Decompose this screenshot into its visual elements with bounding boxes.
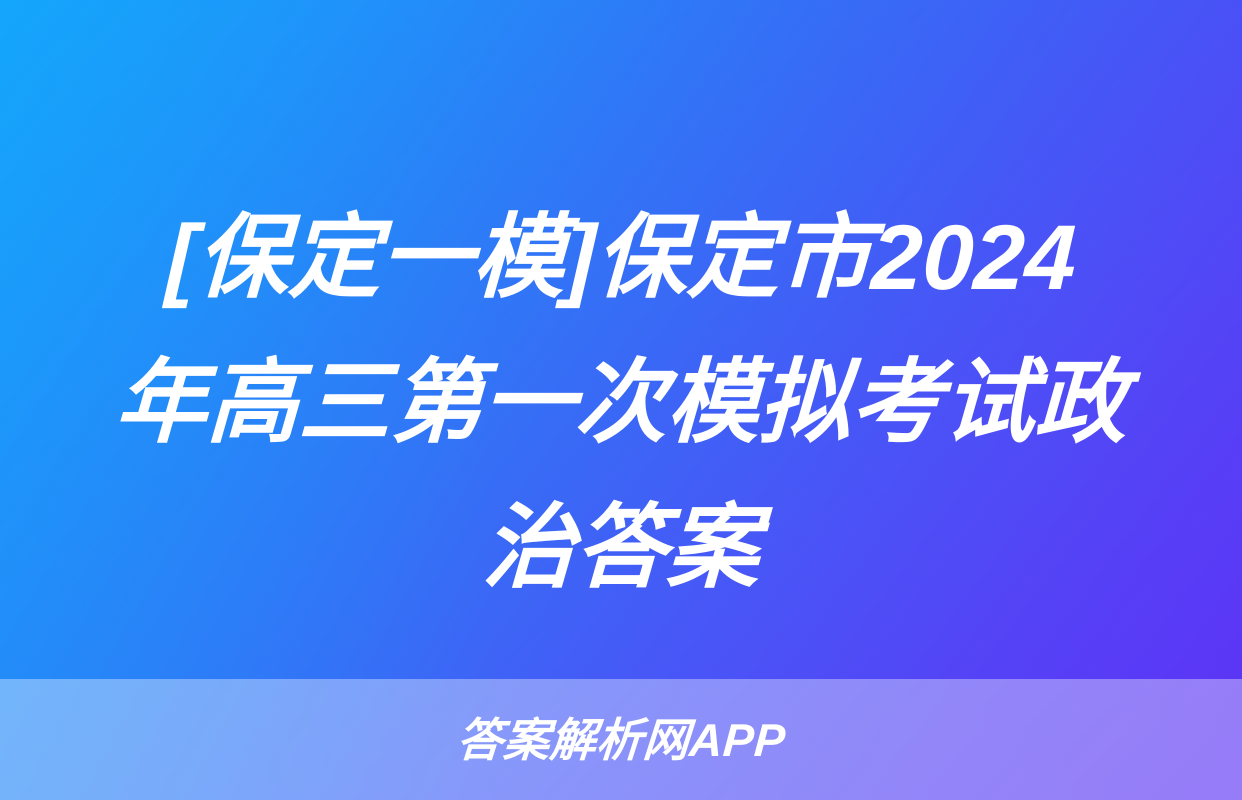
page-title-line-1: [保定一模]保定市2024 [83,186,1158,331]
watermark-brand-label: 答案解析网APP [455,717,787,763]
page-title-line-3: 治答案 [83,476,1158,621]
title-block: [保定一模]保定市2024 年高三第一次模拟考试政 治答案 [0,186,1242,621]
watermark-band: 答案解析网APP [0,679,1242,800]
banner-canvas: [保定一模]保定市2024 年高三第一次模拟考试政 治答案 答案解析网APP [0,0,1242,800]
page-title-line-2: 年高三第一次模拟考试政 [83,331,1158,476]
